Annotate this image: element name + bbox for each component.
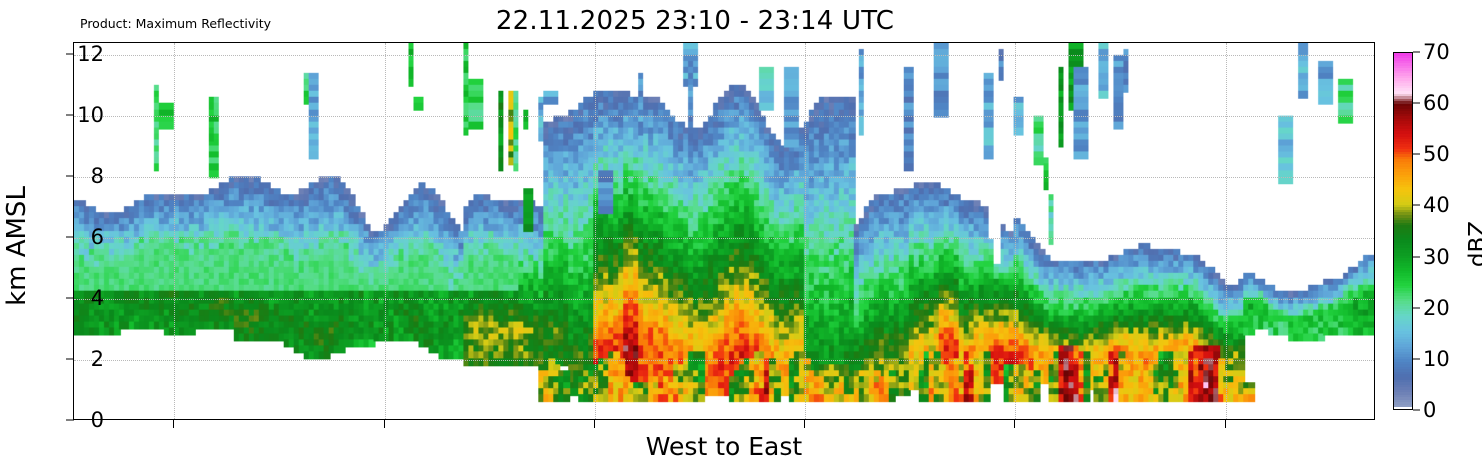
y-tick-label: 6 (91, 225, 104, 249)
y-tick-mark (66, 237, 74, 238)
colorbar-tick-mark (1413, 205, 1420, 206)
colorbar-tick-label: 40 (1423, 193, 1450, 217)
y-tick-label: 4 (91, 286, 104, 310)
y-tick-mark (66, 176, 74, 177)
x-tick-mark (594, 420, 595, 428)
y-tick-mark (66, 359, 74, 360)
colorbar-tick-label: 50 (1423, 142, 1450, 166)
colorbar-tick-mark (1413, 256, 1420, 257)
colorbar-tick-mark (1413, 358, 1420, 359)
y-tick-label: 10 (77, 103, 104, 127)
y-axis-label: km AMSL (2, 186, 32, 306)
colorbar-tick-label: 60 (1423, 91, 1450, 115)
x-tick-mark (173, 420, 174, 428)
plot-area (73, 42, 1375, 420)
y-tick-label: 12 (77, 42, 104, 66)
y-tick-mark (66, 115, 74, 116)
colorbar-tick-label: 30 (1423, 245, 1450, 269)
colorbar-tick-label: 70 (1423, 40, 1450, 64)
colorbar-tick-mark (1413, 103, 1420, 104)
x-tick-mark (1014, 420, 1015, 428)
colorbar-tick-label: 20 (1423, 296, 1450, 320)
radar-cross-section-figure: Product: Maximum Reflectivity 22.11.2025… (0, 0, 1482, 470)
reflectivity-heatmap (74, 43, 1374, 419)
colorbar-tick-label: 10 (1423, 347, 1450, 371)
y-tick-label: 0 (91, 408, 104, 432)
colorbar-tick-mark (1413, 154, 1420, 155)
colorbar-tick-mark (1413, 52, 1420, 53)
y-tick-mark (66, 298, 74, 299)
colorbar-segment (1394, 405, 1412, 408)
x-tick-mark (804, 420, 805, 428)
x-axis-label: West to East (73, 432, 1375, 461)
colorbar-tick-mark (1413, 307, 1420, 308)
y-tick-label: 2 (91, 347, 104, 371)
y-tick-mark (66, 54, 74, 55)
colorbar-tick-mark (1413, 410, 1420, 411)
colorbar-tick-label: 0 (1423, 398, 1436, 422)
colorbar (1393, 52, 1413, 410)
colorbar-label: dBZ (1465, 221, 1482, 267)
y-tick-label: 8 (91, 164, 104, 188)
x-tick-mark (1225, 420, 1226, 428)
page-title: 22.11.2025 23:10 - 23:14 UTC (0, 6, 1390, 36)
x-tick-mark (384, 420, 385, 428)
y-tick-mark (66, 420, 74, 421)
